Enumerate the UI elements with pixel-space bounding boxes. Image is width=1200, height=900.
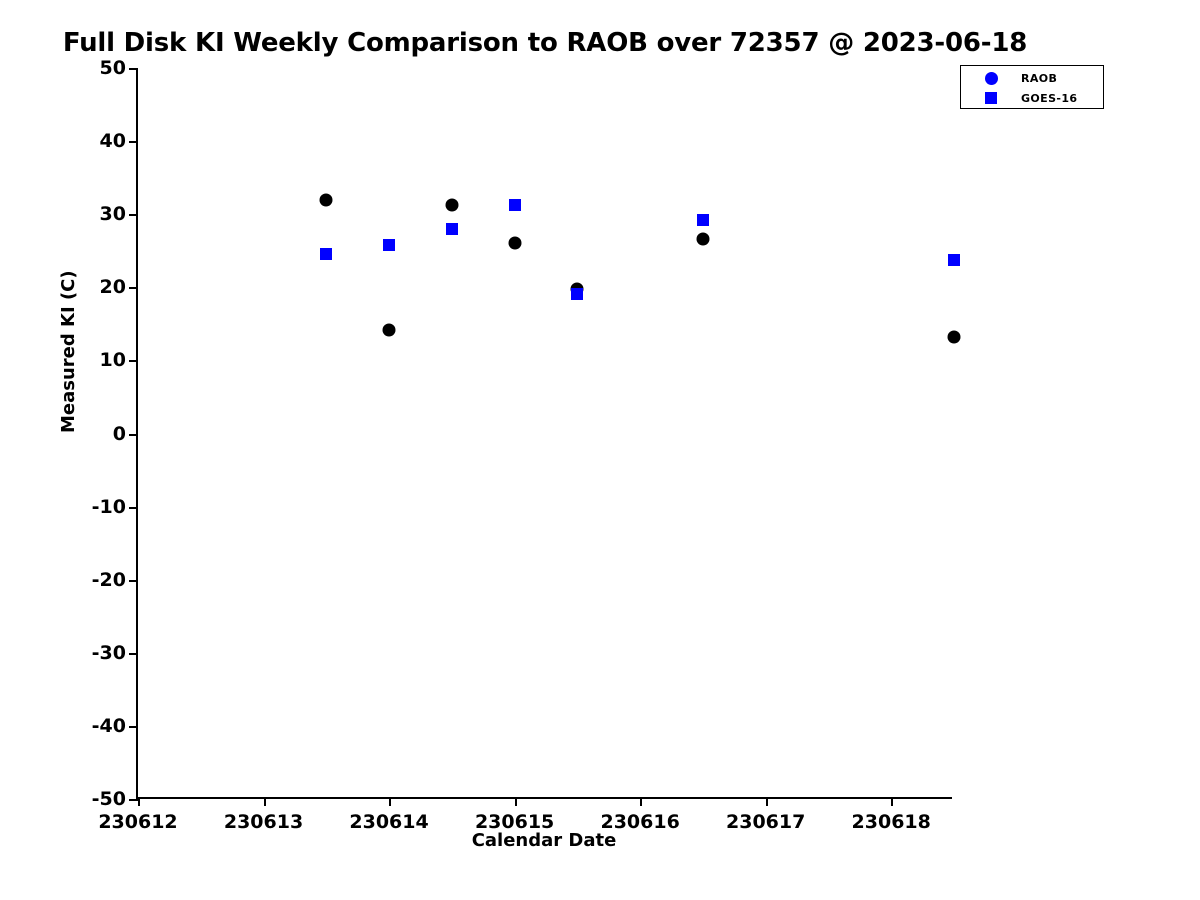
- plot-area: 50403020100-10-20-30-40-50 2306122306132…: [136, 68, 952, 799]
- legend-label-goes16: GOES-16: [1021, 92, 1078, 105]
- y-tick-label: -50: [92, 788, 126, 810]
- y-tick-label: -10: [92, 496, 126, 518]
- y-tick-label: 10: [100, 349, 126, 371]
- y-tick-mark: [129, 214, 138, 216]
- data-point-goes-16: [571, 288, 583, 300]
- y-tick-label: 50: [100, 57, 126, 79]
- data-point-raob: [696, 233, 709, 246]
- y-tick-mark: [129, 68, 138, 70]
- x-tick-mark: [891, 797, 893, 806]
- chart-figure: Full Disk KI Weekly Comparison to RAOB o…: [0, 0, 1200, 900]
- y-tick-mark: [129, 287, 138, 289]
- chart-title: Full Disk KI Weekly Comparison to RAOB o…: [0, 28, 1090, 58]
- x-tick-mark: [264, 797, 266, 806]
- data-point-raob: [320, 193, 333, 206]
- data-point-raob: [508, 237, 521, 250]
- x-tick-mark: [389, 797, 391, 806]
- data-point-raob: [445, 199, 458, 212]
- data-point-goes-16: [697, 214, 709, 226]
- data-point-raob: [948, 331, 961, 344]
- data-point-goes-16: [509, 199, 521, 211]
- chart-legend: RAOB GOES-16: [960, 65, 1104, 109]
- y-tick-label: 30: [100, 203, 126, 225]
- data-point-goes-16: [446, 223, 458, 235]
- x-axis-label: Calendar Date: [136, 830, 952, 851]
- y-tick-label: 20: [100, 276, 126, 298]
- y-tick-mark: [129, 141, 138, 143]
- legend-entry-goes16: GOES-16: [961, 87, 1103, 109]
- data-point-raob: [383, 324, 396, 337]
- x-tick-mark: [138, 797, 140, 806]
- data-point-goes-16: [948, 254, 960, 266]
- y-tick-label: -30: [92, 642, 126, 664]
- y-tick-mark: [129, 434, 138, 436]
- y-tick-label: 40: [100, 130, 126, 152]
- legend-label-raob: RAOB: [1021, 72, 1057, 85]
- y-tick-mark: [129, 507, 138, 509]
- legend-entry-raob: RAOB: [961, 67, 1103, 89]
- data-point-goes-16: [320, 248, 332, 260]
- y-tick-mark: [129, 726, 138, 728]
- y-tick-mark: [129, 653, 138, 655]
- data-point-goes-16: [383, 239, 395, 251]
- y-tick-mark: [129, 580, 138, 582]
- x-tick-mark: [515, 797, 517, 806]
- y-tick-mark: [129, 360, 138, 362]
- y-tick-mark: [129, 799, 138, 801]
- x-tick-mark: [640, 797, 642, 806]
- y-tick-label: 0: [113, 423, 126, 445]
- y-tick-label: -40: [92, 715, 126, 737]
- legend-circle-icon: [961, 72, 1021, 85]
- x-tick-mark: [766, 797, 768, 806]
- y-axis-label: Measured KI (C): [58, 270, 79, 433]
- legend-square-icon: [961, 92, 1021, 104]
- y-tick-label: -20: [92, 569, 126, 591]
